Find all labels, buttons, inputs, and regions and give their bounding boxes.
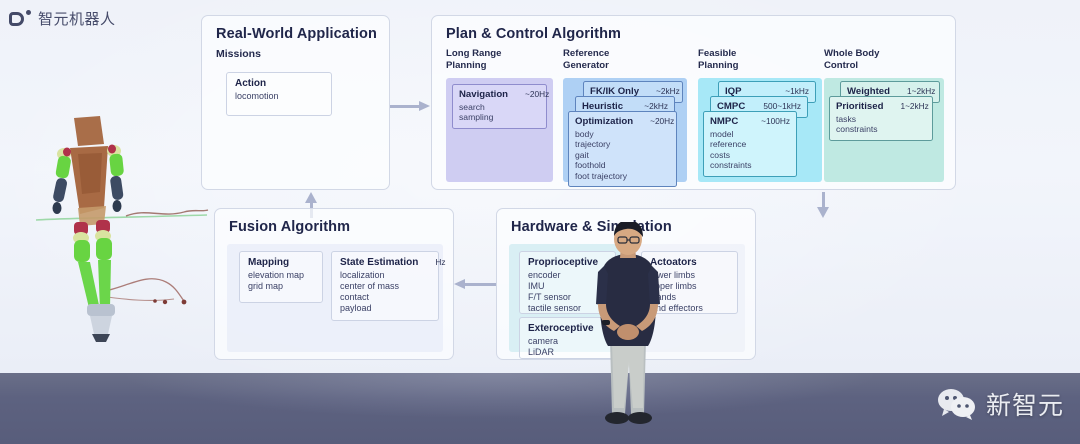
card-prioritised-freq: 1~2kHz (892, 101, 928, 111)
card-weighted-freq: 1~2kHz (899, 86, 935, 96)
arrow-realworld-to-plan (390, 100, 431, 112)
brand-logo: 智元机器人 (9, 8, 116, 29)
presenter-person (576, 222, 680, 444)
card-optimization-freq: ~20Hz (642, 116, 674, 126)
card-nmpc[interactable]: NMPC ~100Hz model reference costs constr… (703, 111, 797, 177)
card-prioritised-items: tasks constraints (836, 114, 926, 135)
card-optimization[interactable]: Optimization ~20Hz body trajectory gait … (568, 111, 677, 187)
card-mapping[interactable]: Mapping elevation map grid map (239, 251, 323, 303)
card-action-items: locomotion (235, 91, 324, 102)
card-state-estimation-freq: Hz (427, 257, 445, 267)
card-cmpc-freq: 500~1kHz (755, 101, 801, 111)
card-prioritised[interactable]: Prioritised 1~2kHz tasks constraints (829, 96, 933, 141)
card-optimization-items: body trajectory gait foothold foot traje… (575, 129, 670, 181)
column-head-reference-generator: Reference Generator (563, 48, 609, 71)
wechat-icon (937, 388, 977, 421)
card-navigation[interactable]: Navigation ~20Hz search sampling (452, 84, 547, 129)
column-head-feasible-planning: Feasible Planning (698, 48, 739, 71)
card-navigation-name: Navigation (459, 89, 508, 100)
column-head-whole-body-control: Whole Body Control (824, 48, 879, 71)
card-nmpc-name: NMPC (710, 116, 738, 127)
panel-subtitle-missions: Missions (216, 48, 261, 60)
card-heuristic-freq: ~2kHz (636, 101, 668, 111)
floor-light-glow (120, 373, 880, 419)
wechat-watermark: 新智元 (937, 386, 1064, 422)
card-state-estimation[interactable]: State Estimation Hz localization center … (331, 251, 439, 321)
card-action[interactable]: Action locomotion (226, 72, 332, 116)
card-state-estimation-name: State Estimation (340, 257, 418, 268)
arrow-hardware-to-fusion (454, 278, 496, 290)
panel-title-real-world: Real-World Application (216, 26, 377, 42)
panel-plan-control-algorithm: Plan & Control Algorithm Long Range Plan… (431, 15, 956, 190)
card-prioritised-name: Prioritised (836, 101, 883, 112)
card-navigation-freq: ~20Hz (517, 89, 549, 99)
card-mapping-name: Mapping (248, 257, 289, 268)
arrow-plan-to-hardware (817, 192, 829, 218)
card-nmpc-freq: ~100Hz (753, 116, 790, 126)
robot-simulation-figure (34, 96, 209, 346)
card-nmpc-items: model reference costs constraints (710, 129, 790, 171)
card-optimization-name: Optimization (575, 116, 633, 127)
watermark-text: 新智元 (986, 386, 1064, 422)
brand-name: 智元机器人 (38, 8, 116, 29)
panel-title-fusion-algorithm: Fusion Algorithm (229, 219, 350, 235)
card-mapping-items: elevation map grid map (248, 270, 315, 292)
card-iqp-freq: ~1kHz (777, 86, 809, 96)
panel-real-world-application: Real-World Application Missions Action l… (201, 15, 390, 190)
column-head-long-range-planning: Long Range Planning (446, 48, 501, 71)
card-action-name: Action (235, 78, 266, 89)
robot-logo-icon (9, 10, 31, 27)
card-navigation-items: search sampling (459, 102, 540, 123)
card-fk-ik-only-freq: ~2kHz (648, 86, 680, 96)
panel-title-plan-control: Plan & Control Algorithm (446, 26, 621, 42)
card-state-estimation-items: localization center of mass contact payl… (340, 270, 431, 314)
panel-fusion-algorithm: Fusion Algorithm Mapping elevation map g… (214, 208, 454, 360)
